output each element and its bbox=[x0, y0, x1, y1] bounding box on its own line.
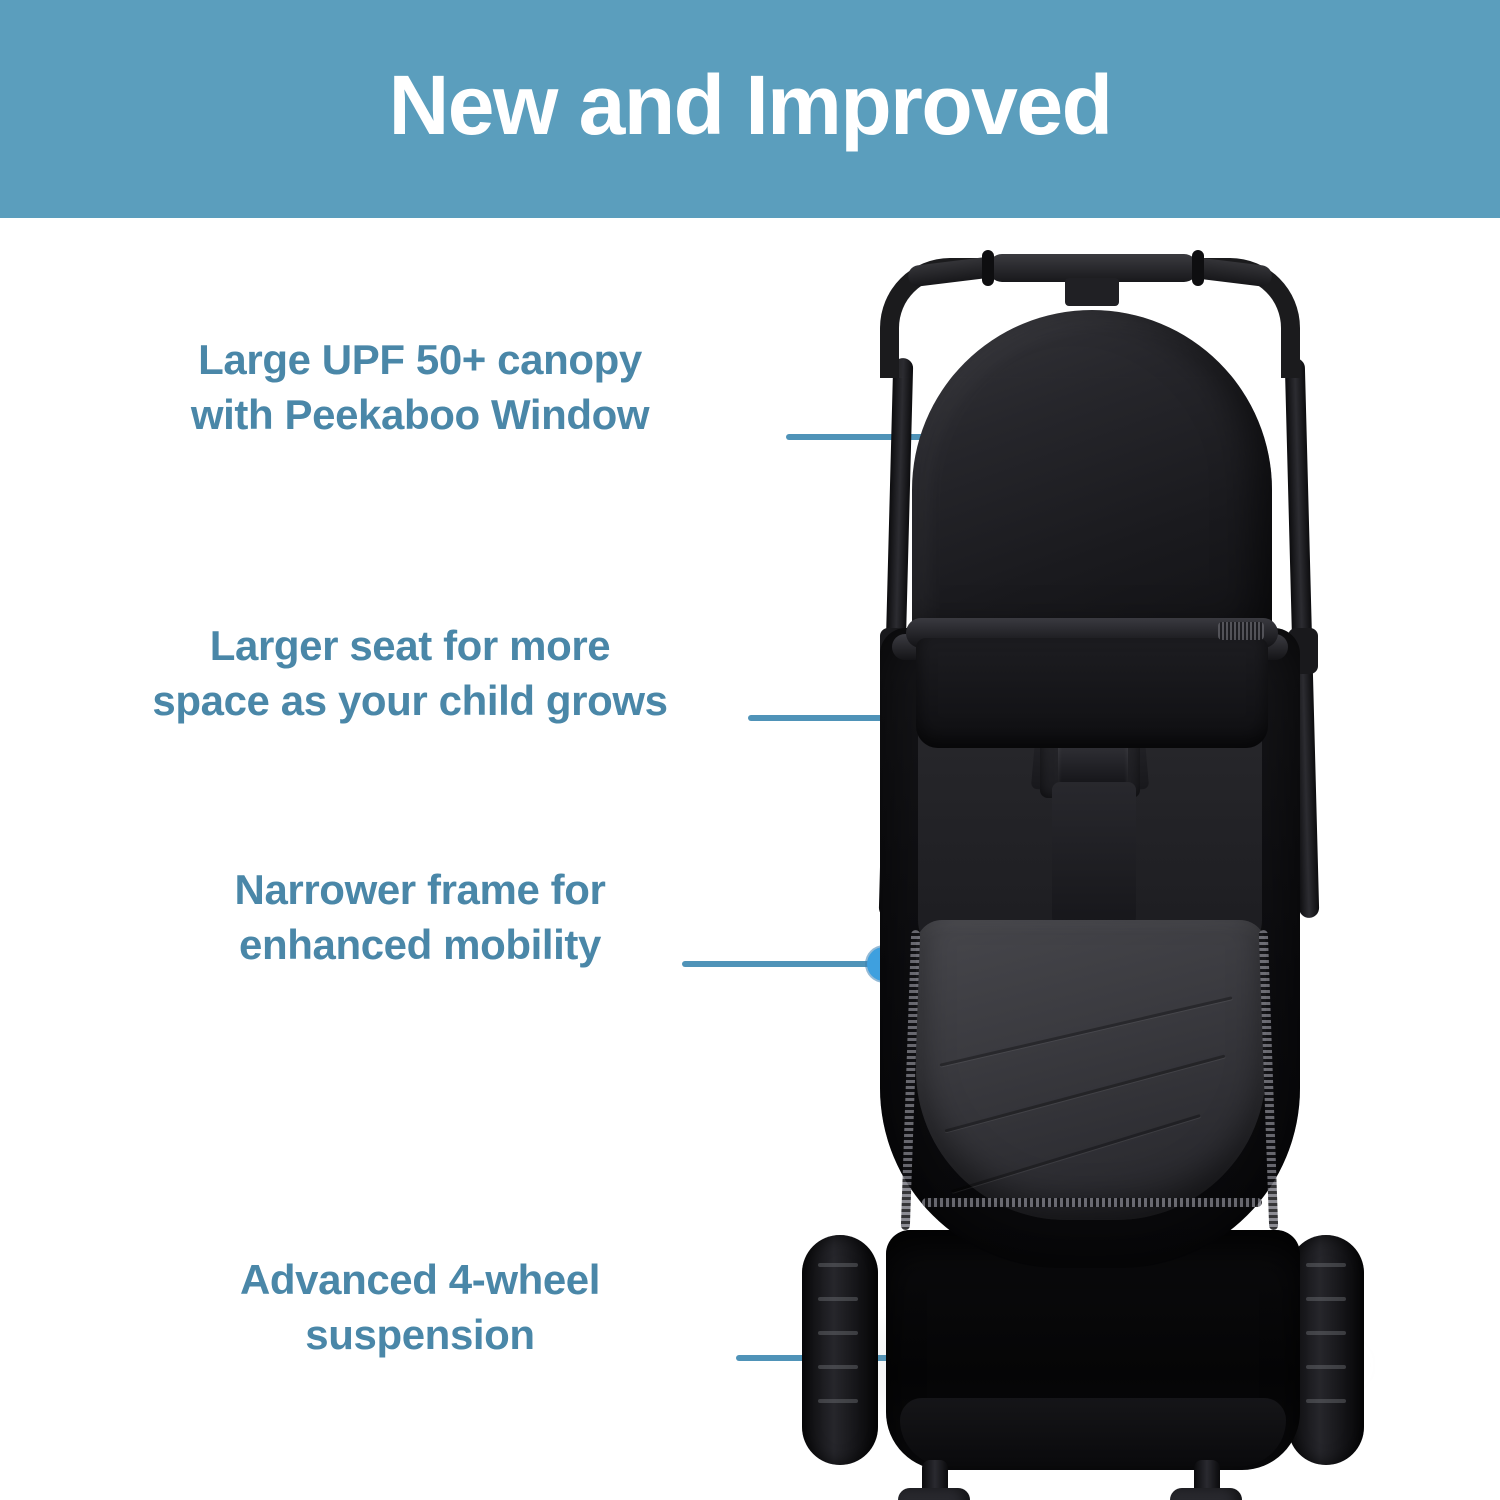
storage-basket-lip bbox=[900, 1398, 1286, 1466]
infographic-page: New and Improved Large UPF 50+ canopy wi… bbox=[0, 0, 1500, 1500]
page-title: New and Improved bbox=[389, 63, 1112, 147]
suspension-housing-left bbox=[898, 1488, 970, 1500]
canopy-zipper bbox=[1218, 622, 1264, 640]
rear-wheel-left bbox=[802, 1235, 878, 1465]
handlebar-ring-right bbox=[1192, 250, 1204, 286]
product-image-stroller bbox=[740, 230, 1460, 1490]
handlebar-center-clip bbox=[1065, 278, 1119, 306]
callout-text-seat: Larger seat for more space as your child… bbox=[80, 618, 740, 729]
callout-text-frame: Narrower frame for enhanced mobility bbox=[140, 862, 700, 973]
callout-text-suspension: Advanced 4-wheel suspension bbox=[150, 1252, 690, 1363]
handlebar-ring-left bbox=[982, 250, 994, 286]
zipper-bottom bbox=[922, 1198, 1262, 1207]
suspension-housing-right bbox=[1170, 1488, 1242, 1500]
canopy-rear-panel bbox=[916, 638, 1268, 748]
header-band: New and Improved bbox=[0, 0, 1500, 218]
footmuff-apron bbox=[916, 920, 1266, 1220]
harness-crotch-pad bbox=[1052, 782, 1136, 932]
callout-text-canopy: Large UPF 50+ canopy with Peekaboo Windo… bbox=[100, 332, 740, 443]
